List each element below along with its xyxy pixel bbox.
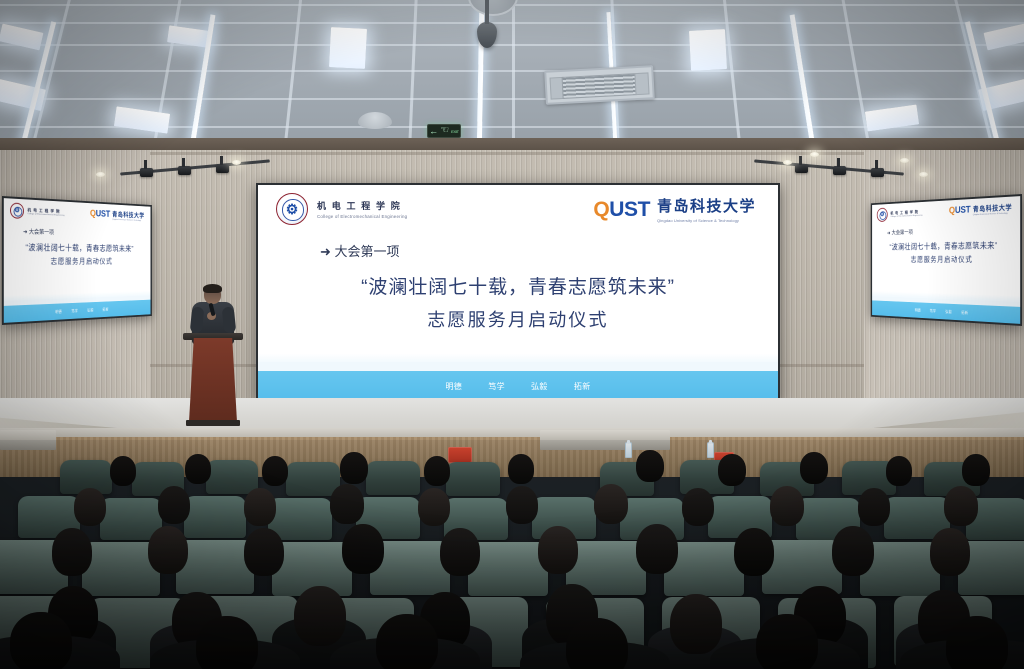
- exit-sign: ← ☜ EXIT: [427, 124, 461, 138]
- slide-wave-band: [258, 362, 778, 371]
- track-spotlight: [140, 168, 153, 177]
- audience-head: [508, 454, 534, 484]
- auditorium-photo: ← ☜ EXIT ⚙: [0, 0, 1024, 669]
- ceiling-dish-fixture: [358, 112, 392, 129]
- audience-head: [594, 484, 628, 524]
- exit-running-man-icon: ☜: [440, 126, 449, 136]
- motto-word: 明德: [55, 309, 62, 315]
- track-spotlight: [216, 164, 229, 173]
- audience-head: [944, 486, 978, 526]
- audience-head: [340, 452, 368, 484]
- exit-label: EXIT: [451, 129, 459, 134]
- audience-head: [244, 488, 276, 526]
- university-logo: QUST 青岛科技大学 Qingdao University of Scienc…: [90, 209, 144, 222]
- college-emblem-icon: ⚙: [877, 208, 888, 222]
- seat: [184, 496, 246, 538]
- slide-content: ⚙ 机 电 工 程 学 院 College of Electromechanic…: [872, 196, 1020, 324]
- audience-head: [734, 528, 774, 576]
- audience-head: [158, 486, 190, 524]
- audience-head: [418, 488, 450, 526]
- seat: [762, 540, 842, 594]
- audience-head: [185, 454, 211, 484]
- audience-head: [566, 618, 628, 669]
- college-name-en: College of Electromechanical Engineering: [317, 214, 407, 219]
- audience-head: [756, 614, 818, 669]
- college-name-en: College of Electromechanical Engineering: [27, 213, 64, 217]
- exit-arrow-icon: ←: [429, 127, 438, 136]
- track-spotlight: [871, 168, 884, 177]
- college-name-en: College of Electromechanical Engineering: [890, 215, 922, 218]
- audience-head: [858, 488, 890, 526]
- audience-head: [74, 488, 106, 526]
- audience-head: [440, 528, 480, 576]
- track-spotlight: [795, 164, 808, 173]
- motto-word: 明德: [445, 381, 462, 392]
- college-emblem-icon: ⚙: [276, 193, 308, 225]
- audience-head: [148, 526, 188, 574]
- recessed-downlight: [919, 172, 928, 177]
- motto-word: 笃学: [488, 381, 505, 392]
- slide-content: ⚙ 机 电 工 程 学 院 College of Electromechanic…: [258, 185, 778, 401]
- motto-word: 明德: [915, 307, 921, 313]
- slide-subtitle: 志愿服务月启动仪式: [4, 256, 151, 267]
- audience-head: [832, 526, 874, 576]
- slide-subtitle: 志愿服务月启动仪式: [872, 254, 1020, 265]
- audience-head: [770, 486, 804, 526]
- ceiling: ← ☜ EXIT: [0, 0, 1024, 150]
- university-name-en: Qingdao University of Science & Technolo…: [973, 212, 1012, 216]
- motto-word: 弘毅: [531, 381, 548, 392]
- audience-head: [196, 616, 258, 669]
- motto-word: 弘毅: [945, 309, 952, 315]
- seat: [206, 460, 258, 494]
- audience-head: [506, 486, 538, 524]
- motto-word: 拓新: [961, 310, 968, 316]
- audience-head: [342, 524, 384, 574]
- audience-head: [538, 526, 578, 574]
- college-logo: ⚙ 机 电 工 程 学 院 College of Electromechanic…: [10, 202, 65, 220]
- lectern-base: [186, 420, 240, 426]
- left-side-screen[interactable]: ⚙ 机 电 工 程 学 院 College of Electromechanic…: [2, 196, 152, 325]
- track-spotlight: [833, 166, 846, 175]
- audience-head: [244, 528, 284, 576]
- university-motto: 明德 笃学 弘毅 拓新: [55, 306, 109, 314]
- college-logo: ⚙ 机 电 工 程 学 院 College of Electromechanic…: [276, 193, 407, 225]
- audience-head: [636, 450, 664, 482]
- motto-word: 弘毅: [87, 307, 93, 313]
- motto-word: 笃学: [930, 308, 936, 314]
- recessed-downlight: [900, 158, 909, 163]
- slide-subtitle: 志愿服务月启动仪式: [258, 306, 778, 332]
- university-logo: QUST 青岛科技大学 Qingdao University of Scienc…: [593, 195, 756, 223]
- audience-head: [886, 456, 912, 486]
- track-spotlight: [178, 166, 191, 175]
- main-led-screen[interactable]: ⚙ 机 电 工 程 学 院 College of Electromechanic…: [256, 183, 780, 403]
- motto-word: 拓新: [102, 306, 108, 312]
- university-motto: 明德 笃学 弘毅 拓新: [915, 307, 968, 315]
- audience-head: [682, 488, 714, 526]
- audience-head: [670, 594, 722, 654]
- motto-word: 拓新: [574, 381, 591, 392]
- university-name-en: Qingdao University of Science & Technolo…: [112, 219, 144, 222]
- seat: [446, 462, 500, 496]
- audience-head: [946, 616, 1008, 669]
- ceiling-panel-light: [689, 29, 727, 71]
- slide-footer: 明德 笃学 弘毅 拓新: [258, 371, 778, 401]
- recessed-downlight: [232, 160, 241, 165]
- audience-head: [10, 612, 72, 669]
- seat: [286, 462, 340, 496]
- college-emblem-icon: ⚙: [10, 202, 24, 218]
- university-motto: 明德 笃学 弘毅 拓新: [445, 381, 590, 392]
- seat: [468, 542, 548, 596]
- audience-head: [330, 484, 364, 524]
- ceiling-air-conditioner-vent: [544, 65, 655, 105]
- slide-agenda-item: ➜ 大会第一项: [887, 224, 1020, 236]
- slide-header: ⚙ 机 电 工 程 学 院 College of Electromechanic…: [258, 185, 778, 225]
- audience-seating: [0, 440, 1024, 669]
- university-logo: QUST 青岛科技大学 Qingdao University of Scienc…: [949, 203, 1012, 218]
- slide-title: “波澜壮阔七十载，青春志愿筑未来”: [258, 272, 778, 299]
- recessed-downlight: [96, 172, 105, 177]
- recessed-downlight: [810, 152, 819, 157]
- qust-mark-icon: QUST: [90, 210, 110, 220]
- slide-agenda-item: ➜ 大会第一项: [23, 227, 150, 239]
- audience-head: [636, 524, 678, 574]
- audience-head: [718, 454, 746, 486]
- audience-head: [800, 452, 828, 484]
- audience-head: [930, 528, 970, 576]
- audience-head: [110, 456, 136, 486]
- university-name-cn: 青岛科技大学: [657, 195, 756, 216]
- college-logo: ⚙ 机 电 工 程 学 院 College of Electromechanic…: [877, 206, 923, 222]
- motto-word: 笃学: [71, 308, 78, 314]
- audience-head: [962, 454, 990, 486]
- college-name-cn: 机 电 工 程 学 院: [317, 199, 407, 212]
- audience-head: [376, 614, 438, 669]
- audience-head: [52, 528, 92, 576]
- audience-head: [424, 456, 450, 486]
- seat: [366, 461, 420, 495]
- qust-mark-icon: QUST: [593, 199, 650, 220]
- qust-mark-icon: QUST: [949, 206, 971, 216]
- slide-agenda-item: ➜ 大会第一项: [320, 241, 778, 260]
- slide-title: “波澜壮阔七十载，青春志愿筑未来”: [4, 241, 151, 254]
- ceiling-panel-light: [329, 27, 367, 69]
- slide-content: ⚙ 机 电 工 程 学 院 College of Electromechanic…: [4, 198, 151, 323]
- audience-head: [294, 586, 346, 646]
- wooden-lectern: [189, 338, 237, 422]
- audience-head: [262, 456, 288, 486]
- university-name-en: Qingdao University of Science & Technolo…: [657, 218, 756, 223]
- right-side-screen[interactable]: ⚙ 机 电 工 程 学 院 College of Electromechanic…: [871, 194, 1022, 326]
- slide-title: “波澜壮阔七十载，青春志愿筑未来”: [872, 239, 1020, 252]
- recessed-downlight: [783, 160, 792, 165]
